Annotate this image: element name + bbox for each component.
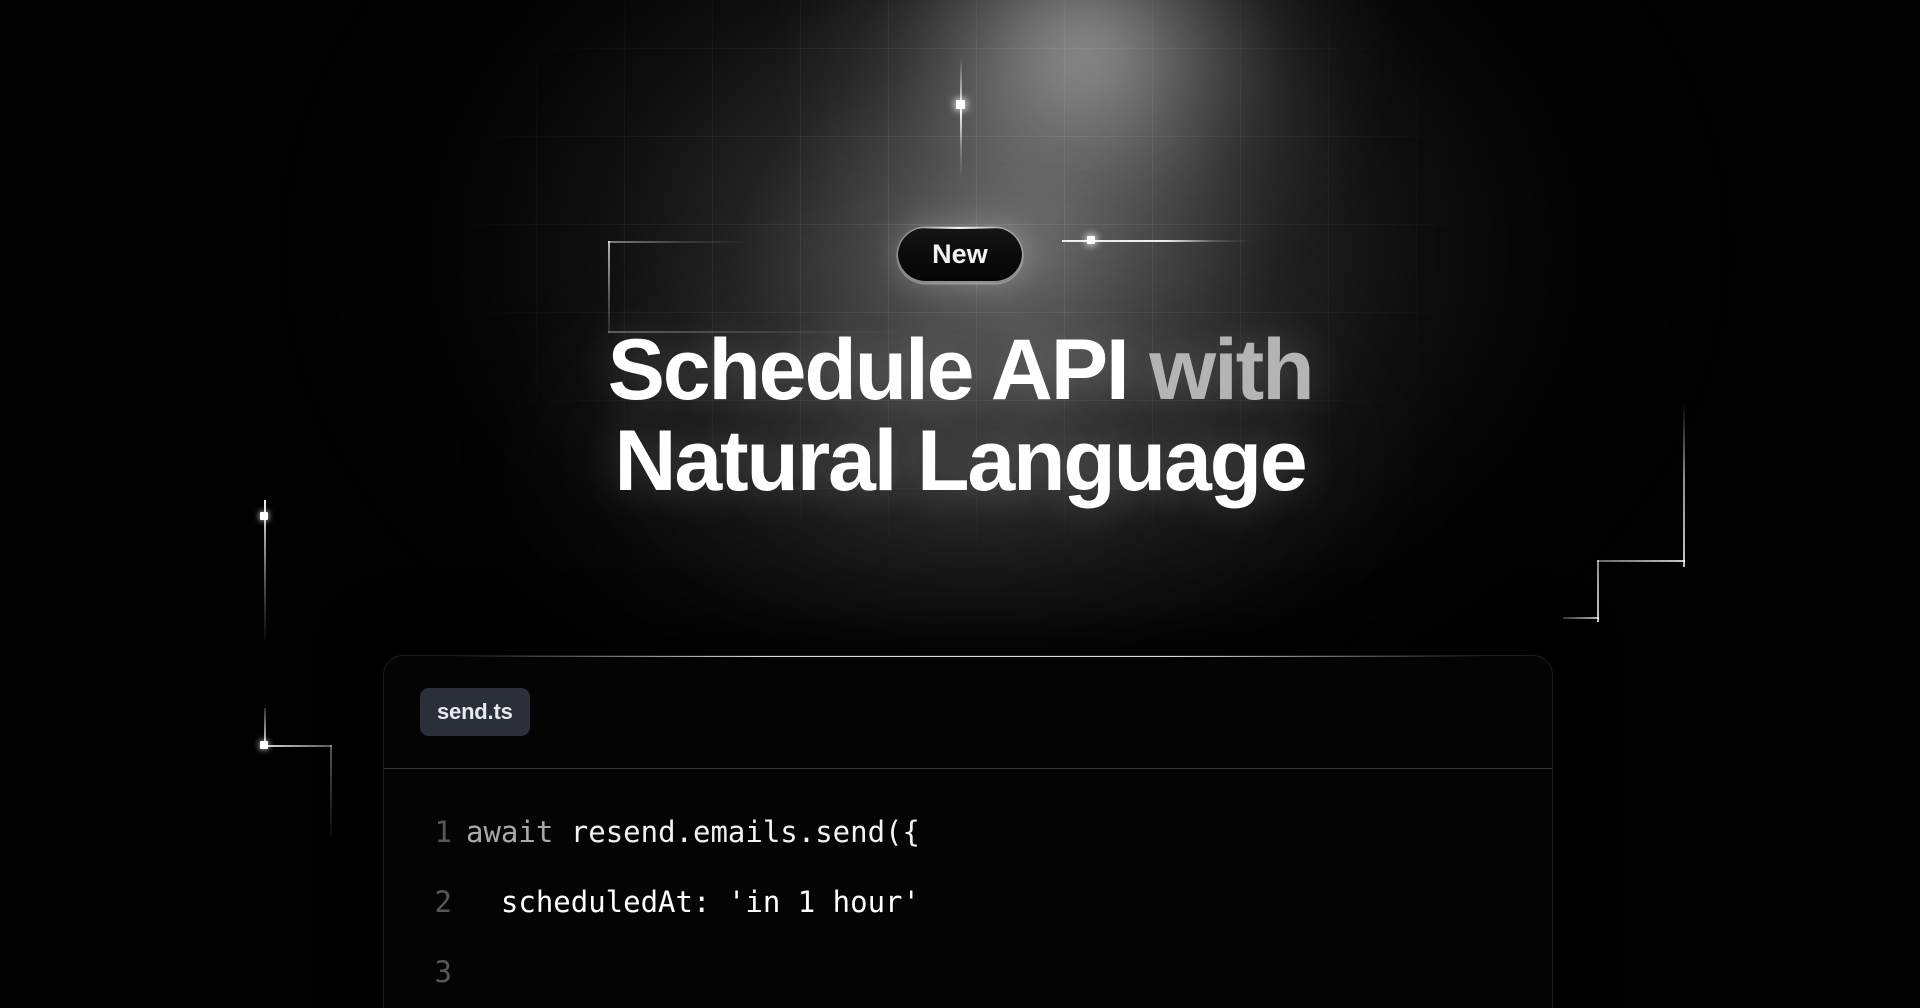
token-space [553, 815, 570, 849]
new-badge[interactable]: New [898, 228, 1022, 283]
hero-stage: New Schedule API with Natural Language s… [0, 0, 1920, 1008]
code-line: 3 [384, 937, 1552, 1007]
new-badge-label: New [932, 241, 988, 268]
code-editor[interactable]: 1 await resend.emails.send({ 2 scheduled… [384, 769, 1552, 1007]
code-panel-header: send.ts [384, 656, 1552, 769]
line-number: 2 [384, 867, 466, 937]
token-property-scheduledat: scheduledAt: [501, 885, 711, 919]
file-tab-send-ts[interactable]: send.ts [420, 688, 530, 736]
code-line-text: await resend.emails.send({ [466, 797, 920, 867]
line-number: 1 [384, 797, 466, 867]
code-panel: send.ts 1 await resend.emails.send({ 2 s… [383, 655, 1553, 1008]
token-call-expression: resend.emails.send({ [571, 815, 920, 849]
headline-strong: Schedule API [608, 322, 1150, 418]
file-tab-label: send.ts [437, 699, 513, 725]
token-space [710, 885, 727, 919]
token-keyword-await: await [466, 815, 553, 849]
line-number: 3 [384, 937, 466, 1007]
headline-dim: with [1149, 322, 1312, 418]
code-line-text: scheduledAt: 'in 1 hour' [466, 867, 920, 937]
token-indent [466, 885, 501, 919]
page-title: Schedule API with Natural Language [608, 325, 1313, 507]
headline-line-1: Schedule API with [608, 322, 1313, 418]
code-line: 1 await resend.emails.send({ [384, 797, 1552, 867]
headline-line-2: Natural Language [614, 413, 1305, 509]
token-string-literal: 'in 1 hour' [728, 885, 920, 919]
code-line: 2 scheduledAt: 'in 1 hour' [384, 867, 1552, 937]
